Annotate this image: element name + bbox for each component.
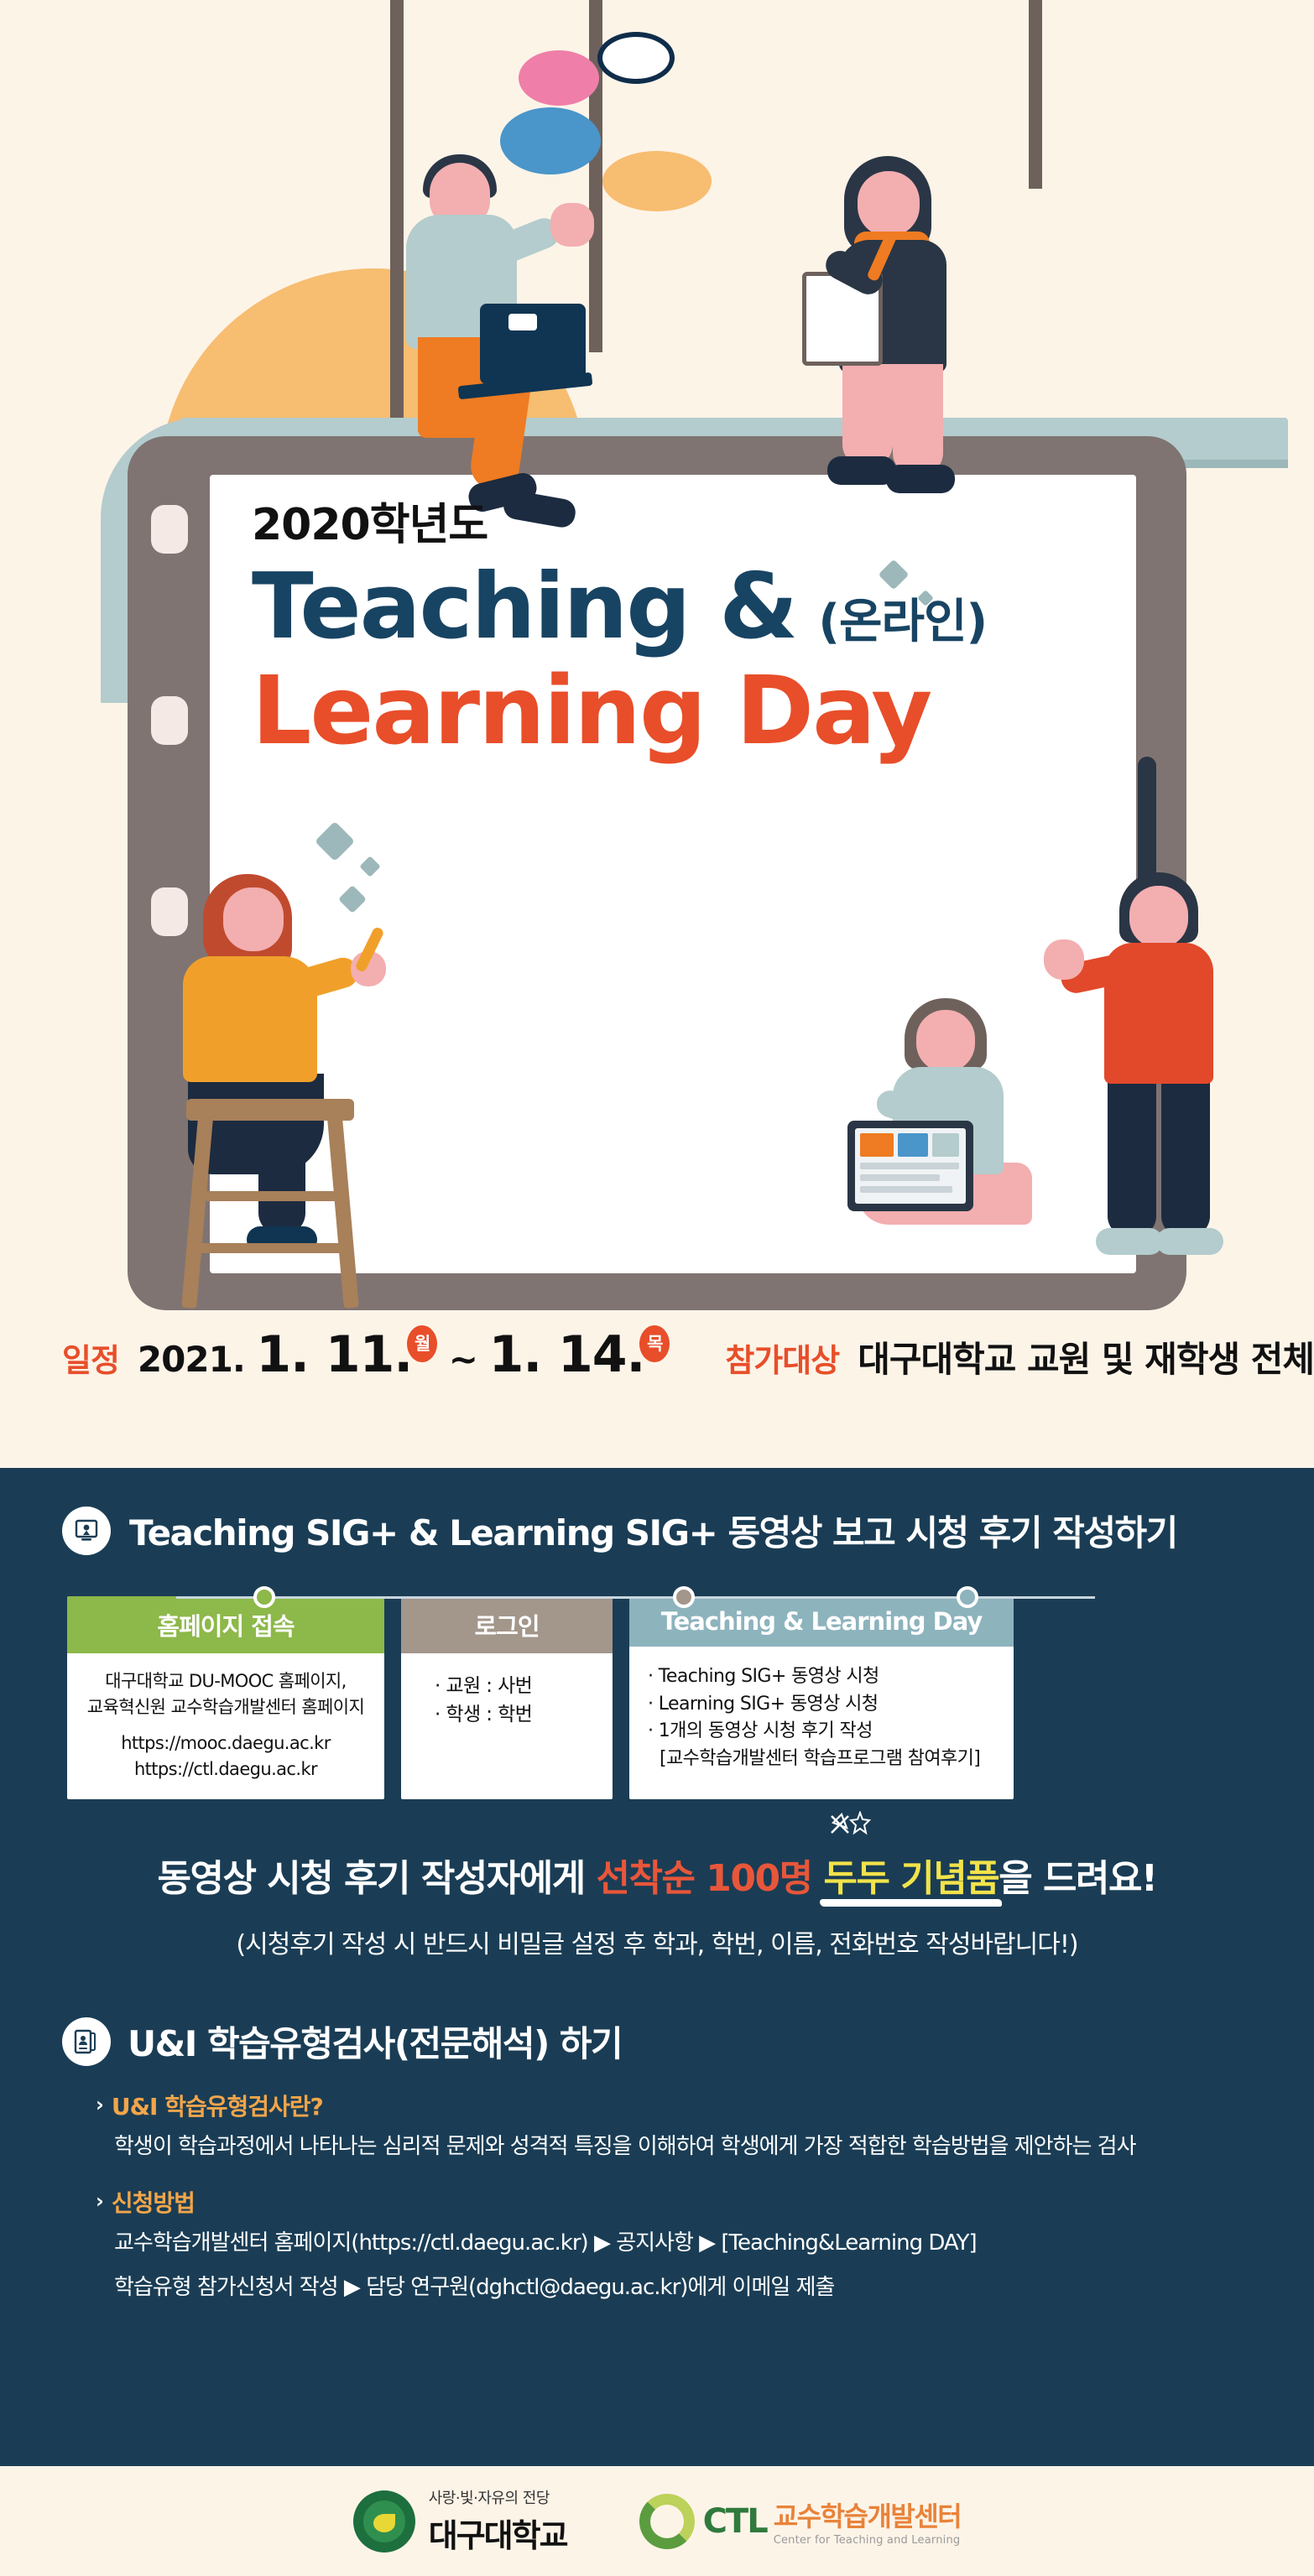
shoe-shape	[1156, 1228, 1223, 1255]
screen-text-line	[860, 1186, 952, 1193]
leg-shape	[1161, 1077, 1210, 1236]
title-second-line: Learning Day	[252, 664, 1074, 758]
head-shape	[858, 171, 920, 237]
section-2-title: U&I 학습유형검사(전문해석) 하기	[128, 2016, 622, 2067]
tablet-button-icon	[151, 505, 188, 554]
ui-question: › 신청방법	[96, 2185, 1314, 2219]
gift-text-part1: 동영상 시청 후기 작성자에게	[158, 1857, 597, 1900]
schedule-range-separator: ~	[449, 1339, 477, 1380]
ui-question-text: 신청방법	[112, 2185, 195, 2219]
ctl-name-stack: 교수학습개발센터 Center for Teaching and Learnin…	[774, 2495, 962, 2547]
step-link-ctl: https://ctl.daegu.ac.kr	[134, 1759, 317, 1779]
schedule-label: 일정	[62, 1335, 119, 1381]
poster-root: 2020학년도 Teaching & (온라인) Learning Day 일정…	[0, 0, 1314, 2576]
title-first-line: Teaching & (온라인)	[252, 562, 1074, 653]
step-line: · Learning SIG+ 동영상 시청	[648, 1694, 878, 1715]
step-card-header: 로그인	[401, 1596, 613, 1653]
gift-text-part2: 을 드려요!	[999, 1857, 1156, 1900]
schedule-start-day-badge: 월	[407, 1325, 437, 1362]
character-standing-right	[1049, 872, 1267, 1275]
step-link-mooc: https://mooc.daegu.ac.kr	[121, 1733, 331, 1753]
ui-item-definition: › U&I 학습유형검사란? 학생이 학습과정에서 나타나는 심리적 문제와 성…	[96, 2089, 1314, 2163]
hand-shape	[1044, 939, 1084, 980]
step-card-body: 대구대학교 DU-MOOC 홈페이지, 교육혁신원 교수학습개발센터 홈페이지 …	[67, 1653, 384, 1799]
sparkle-icon	[826, 1811, 877, 1848]
university-name: 대구대학교	[429, 2510, 567, 2556]
gift-highlight-item: 두두 기념품	[823, 1857, 999, 1900]
target-label: 참가대상	[725, 1335, 839, 1381]
step-card-body: · Teaching SIG+ 동영상 시청 · Learning SIG+ 동…	[629, 1647, 1014, 1799]
poster-title-block: 2020학년도 Teaching & (온라인) Learning Day	[252, 503, 1074, 758]
arrow-right-icon: ›	[96, 2189, 103, 2213]
target-value: 대구대학교 교원 및 재학생 전체	[858, 1331, 1314, 1382]
program-details-section: Teaching SIG+ & Learning SIG+ 동영상 보고 시청 …	[0, 1468, 1314, 2466]
presentation-board-icon	[62, 1507, 111, 1555]
speech-bubble-icon	[597, 32, 675, 84]
step-line: · 교원 : 사번	[435, 1675, 532, 1697]
screen-thumbnail	[932, 1133, 959, 1157]
step-card-header: 홈페이지 접속	[67, 1596, 384, 1653]
step-line: · 학생 : 학번	[435, 1704, 532, 1725]
schedule-end-day-badge: 목	[639, 1325, 670, 1362]
gift-highlight-count: 선착순 100명	[597, 1857, 812, 1900]
stool-rung	[200, 1243, 342, 1253]
step-sub-line: [교수학습개발센터 학습프로그램 참여후기]	[648, 1746, 1002, 1773]
step-line: 교육혁신원 교수학습개발센터 홈페이지	[87, 1697, 364, 1717]
head-shape	[916, 1010, 975, 1072]
step-line: 대구대학교 DU-MOOC 홈페이지,	[105, 1671, 346, 1691]
ctl-ring-icon	[639, 2494, 695, 2549]
section-2-items: › U&I 학습유형검사란? 학생이 학습과정에서 나타나는 심리적 문제와 성…	[0, 2089, 1314, 2304]
gift-space	[812, 1857, 824, 1900]
head-shape	[223, 887, 284, 951]
university-slogan: 사랑·빛·자유의 전당	[429, 2486, 567, 2508]
ui-answer-text: 학생이 학습과정에서 나타나는 심리적 문제와 성격적 특징을 이해하여 학생에…	[96, 2131, 1314, 2163]
shoe-shape	[886, 465, 955, 493]
screen-text-line	[860, 1163, 959, 1169]
schedule-year: 2021.	[138, 1339, 245, 1380]
ctl-english-name: Center for Teaching and Learning	[774, 2534, 962, 2547]
ui-answer-line-2: 학습유형 참가신청서 작성 ▶ 담당 연구원(dghctl@daegu.ac.k…	[96, 2272, 1314, 2304]
ctl-abbreviation: CTL	[703, 2502, 767, 2541]
stool-leg	[181, 1116, 213, 1309]
shoe-shape	[1096, 1228, 1163, 1255]
laptop-screen-highlight	[508, 314, 537, 330]
screen-thumbnail	[860, 1133, 894, 1157]
gift-note: (시청후기 작성 시 반드시 비밀글 설정 후 학과, 학번, 이름, 전화번호…	[0, 1923, 1314, 1960]
screen-text-line	[860, 1174, 940, 1181]
gift-announcement: 동영상 시청 후기 작성자에게 선착순 100명 두두 기념품을 드려요!	[0, 1848, 1314, 1902]
hero-illustration-section: 2020학년도 Teaching & (온라인) Learning Day 일정…	[0, 0, 1314, 1468]
screen-thumbnail	[898, 1133, 928, 1157]
stool-seat	[186, 1099, 354, 1121]
step-card-login: 로그인 · 교원 : 사번 · 학생 : 학번	[401, 1596, 613, 1799]
leg-shape	[893, 364, 943, 475]
emblem-inner-shape	[363, 2501, 405, 2542]
hand-shape	[550, 203, 594, 247]
academic-year-label: 2020학년도	[252, 503, 1074, 547]
tablet-button-icon	[151, 696, 188, 745]
step-card-homepage-access: 홈페이지 접속 대구대학교 DU-MOOC 홈페이지, 교육혁신원 교수학습개발…	[67, 1596, 384, 1799]
footer-logos: 사랑·빛·자유의 전당 대구대학교 CTL 교수학습개발센터 Center fo…	[0, 2466, 1314, 2576]
step-card-body: · 교원 : 사번 · 학생 : 학번	[401, 1653, 613, 1799]
leg-shape	[1108, 1077, 1156, 1236]
ui-question: › U&I 학습유형검사란?	[96, 2089, 1314, 2122]
step-node-1	[253, 1586, 275, 1608]
line-gap	[79, 1720, 373, 1730]
daegu-university-logo: 사랑·빛·자유의 전당 대구대학교	[353, 2486, 567, 2556]
ui-item-application: › 신청방법 교수학습개발센터 홈페이지(https://ctl.daegu.a…	[96, 2185, 1314, 2304]
step-line: · 1개의 동영상 시청 후기 작성	[648, 1720, 873, 1741]
schedule-and-target-row: 일정 2021. 1. 11.월 ~ 1. 14.목 참가대상 대구대학교 교원…	[0, 1325, 1314, 1384]
character-with-laptop	[369, 159, 621, 478]
ctl-wordmark: CTL 교수학습개발센터 Center for Teaching and Lea…	[703, 2495, 962, 2547]
arrow-right-icon: ›	[96, 2093, 103, 2116]
step-node-3	[957, 1586, 978, 1608]
step-card-teaching-learning-day: Teaching & Learning Day · Teaching SIG+ …	[629, 1596, 1014, 1799]
leg-shape	[842, 364, 893, 466]
ctl-korean-name: 교수학습개발센터	[774, 2495, 962, 2534]
daegu-university-wordmark: 사랑·빛·자유의 전당 대구대학교	[429, 2486, 567, 2556]
ctl-logo: CTL 교수학습개발센터 Center for Teaching and Lea…	[639, 2494, 962, 2549]
page-title: Teaching &	[252, 562, 796, 653]
title-online-label: (온라인)	[818, 599, 987, 646]
section-2-header: U&I 학습유형검사(전문해석) 하기	[0, 2016, 1314, 2067]
schedule-end-date: 1. 14.	[489, 1325, 645, 1384]
step-line: · Teaching SIG+ 동영상 시청	[648, 1666, 879, 1687]
head-shape	[1129, 886, 1188, 948]
section-1-header: Teaching SIG+ & Learning SIG+ 동영상 보고 시청 …	[0, 1468, 1314, 1556]
speech-bubble-icon	[519, 50, 599, 106]
schedule-value: 2021. 1. 11.월 ~ 1. 14.목	[138, 1325, 670, 1384]
id-card-icon	[62, 2017, 111, 2066]
stool-illustration	[186, 1099, 354, 1309]
step-node-2	[673, 1586, 695, 1608]
daegu-university-emblem-icon	[353, 2490, 415, 2553]
ui-question-text: U&I 학습유형검사란?	[112, 2089, 323, 2122]
stool-rung	[205, 1191, 337, 1201]
section-1-title: Teaching SIG+ & Learning SIG+ 동영상 보고 시청 …	[129, 1505, 1177, 1556]
schedule-start-date: 1. 11.	[256, 1325, 412, 1384]
ui-answer-line-1: 교수학습개발센터 홈페이지(https://ctl.daegu.ac.kr) ▶…	[96, 2227, 1314, 2260]
steps-list: 홈페이지 접속 대구대학교 DU-MOOC 홈페이지, 교육혁신원 교수학습개발…	[0, 1596, 1314, 1799]
character-with-clipboard	[806, 159, 1040, 487]
